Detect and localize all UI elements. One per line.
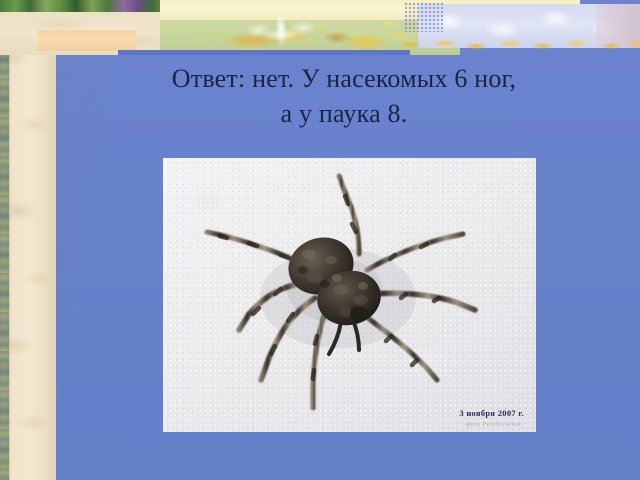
sidebar-parchment-strip — [0, 0, 56, 480]
slide: Ответ: нет. У насекомых 6 ног, а у паука… — [0, 0, 640, 480]
photo-watermark: фото Prozhivalkov — [466, 422, 522, 428]
top-decorative-border — [0, 0, 640, 55]
border-dither-edge — [404, 2, 444, 32]
photo-date-stamp: 3 ноября 2007 г. — [459, 408, 524, 418]
border-peach-accent — [38, 30, 136, 51]
slide-title: Ответ: нет. У насекомых 6 ног, а у паука… — [64, 62, 624, 131]
title-line-1: Ответ: нет. У насекомых 6 ног, — [172, 64, 516, 93]
border-blue-rule — [118, 50, 410, 55]
title-line-2: а у паука 8. — [64, 97, 624, 132]
sidebar-edge-texture — [0, 0, 9, 480]
spider-illustration — [163, 158, 536, 432]
spider-photo: 3 ноября 2007 г. фото Prozhivalkov — [163, 158, 536, 432]
border-wheat-streak — [396, 36, 640, 53]
